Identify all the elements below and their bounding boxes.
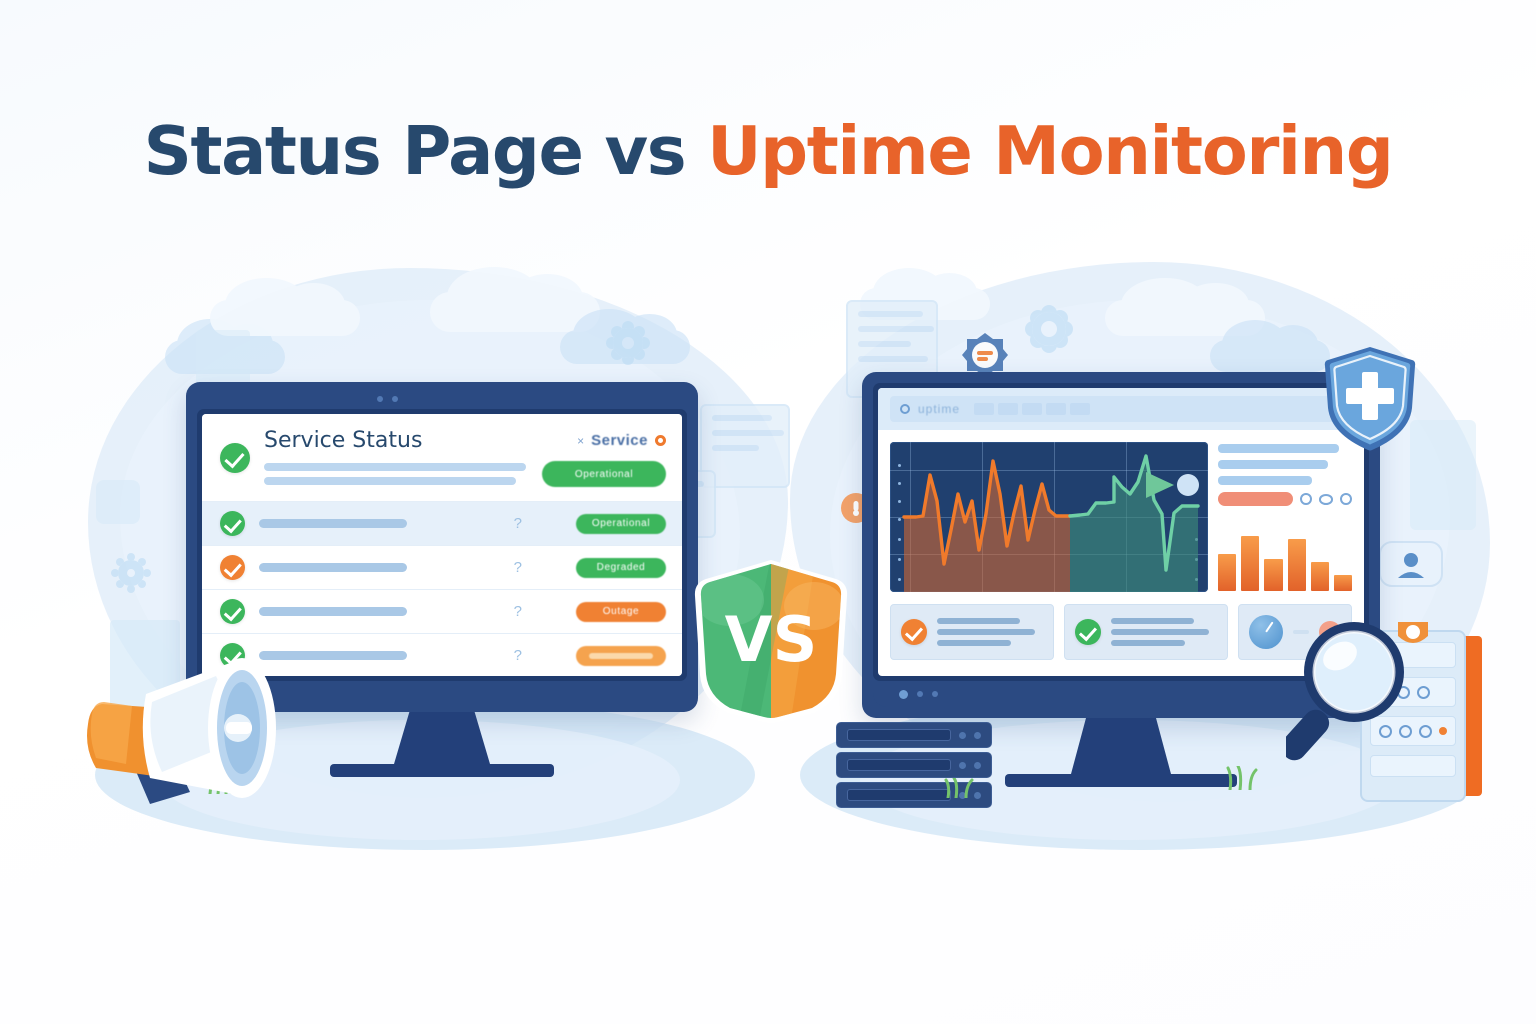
server-slot: [847, 759, 951, 770]
service-name-bar: [259, 563, 407, 572]
badge-inner-bar: [589, 653, 654, 659]
gauge-icon: [1249, 615, 1283, 649]
page-title: Status Page vs Uptime Monitoring: [0, 118, 1536, 185]
grass-icon: [1224, 766, 1258, 790]
placeholder-bar: [1218, 460, 1328, 469]
search-text: uptime: [918, 402, 960, 416]
brand-x-mark: ×: [577, 434, 584, 448]
gear-icon: [118, 560, 144, 586]
dashboard-body: [878, 430, 1364, 604]
megaphone-icon: [66, 636, 316, 816]
status-card[interactable]: [890, 604, 1054, 660]
server-led: [959, 732, 966, 739]
ring-icon: [1319, 494, 1334, 505]
monitor-top-bezel: [197, 393, 687, 409]
background-shape: [96, 480, 140, 524]
server-slot: [847, 729, 951, 740]
monitor-stand-base: [1005, 774, 1237, 787]
dashboard-topbar: uptime: [878, 388, 1364, 430]
bezel-dot: [392, 396, 398, 402]
service-name-bar: [259, 607, 407, 616]
chart-side-panel: [1218, 442, 1352, 592]
row-meta: ?: [514, 515, 522, 532]
chart-series-svg: [890, 442, 1208, 592]
placeholder-bar: [937, 640, 1011, 646]
uptime-chart[interactable]: [890, 442, 1208, 592]
topbar-cell: [1046, 403, 1066, 415]
check-circle-icon: [901, 619, 927, 645]
circle-marker: [1177, 474, 1199, 496]
gear-icon: [613, 328, 643, 358]
topbar-cell: [1022, 403, 1042, 415]
bezel-dot: [932, 691, 938, 697]
background-shape: [196, 330, 250, 390]
bezel-dot: [899, 690, 908, 699]
monitor-stand-base: [330, 764, 554, 777]
card-lines: [1111, 618, 1217, 646]
server-led: [974, 732, 981, 739]
card-lines: [937, 618, 1043, 646]
illustration-canvas: Status Page vs Uptime Monitoring Service…: [0, 0, 1536, 1024]
brand-logo: × Service: [577, 432, 666, 449]
bar-chart[interactable]: [1218, 519, 1352, 591]
grass-icon: [944, 778, 978, 798]
brand-name: Service: [591, 432, 648, 449]
topbar-cells: [974, 403, 1090, 415]
bar-item: [1241, 536, 1259, 591]
row-meta: ?: [514, 603, 522, 620]
placeholder-bar: [937, 629, 1035, 635]
service-name-bar: [259, 519, 407, 528]
row-meta: ?: [514, 559, 522, 576]
bezel-dot: [917, 691, 923, 697]
row-meta: ?: [514, 647, 522, 664]
topbar-cell: [1070, 403, 1090, 415]
server-led: [959, 762, 966, 769]
search-icon: [900, 404, 910, 414]
status-badge[interactable]: Degraded: [576, 558, 666, 578]
server-slot: [847, 789, 951, 800]
placeholder-bar: [264, 477, 516, 485]
magnifier-icon: [1286, 610, 1426, 770]
monitor-stand-neck: [394, 712, 490, 764]
bezel-dot: [377, 396, 383, 402]
topbar-cell: [998, 403, 1018, 415]
placeholder-bar: [1111, 618, 1194, 624]
bar-item: [1311, 562, 1329, 591]
vs-label: VS: [725, 603, 818, 676]
play-triangle-marker: [1146, 472, 1174, 498]
placeholder-bar: [264, 463, 526, 471]
bezel-dots-left: [873, 681, 960, 707]
server-unit: [836, 752, 992, 778]
check-circle-icon: [220, 555, 245, 580]
legend-row: [1218, 492, 1352, 506]
placeholder-bar: [1111, 640, 1185, 646]
ring-icon: [1300, 493, 1312, 505]
placeholder-bar: [1111, 629, 1209, 635]
vs-shield-badge: VS: [686, 556, 856, 726]
status-badge[interactable]: Operational: [576, 514, 666, 534]
table-row[interactable]: ? Operational: [202, 501, 682, 545]
table-row[interactable]: ? Degraded: [202, 545, 682, 589]
status-badge[interactable]: Operational: [542, 461, 666, 487]
status-dot: [1439, 727, 1447, 735]
status-page-title: Service Status: [264, 428, 422, 453]
bar-item: [1334, 575, 1352, 591]
status-card[interactable]: [1064, 604, 1228, 660]
check-circle-icon: [220, 443, 250, 473]
status-badge[interactable]: Outage: [576, 602, 666, 622]
status-badge[interactable]: [576, 646, 666, 666]
background-shape: [1410, 420, 1476, 530]
user-bubble-icon: [1378, 540, 1444, 596]
server-unit: [836, 722, 992, 748]
table-row[interactable]: ? Outage: [202, 589, 682, 633]
search-input[interactable]: uptime: [890, 396, 1352, 422]
topbar-cell: [974, 403, 994, 415]
legend-bar: [1218, 492, 1293, 506]
placeholder-bar: [937, 618, 1020, 624]
placeholder-bar: [1218, 476, 1312, 485]
check-circle-icon: [220, 599, 245, 624]
placeholder-bar: [1218, 444, 1339, 453]
check-circle-icon: [1075, 619, 1101, 645]
ring-logo-icon: [655, 435, 666, 446]
title-dark-part: Status Page vs: [144, 112, 708, 190]
check-circle-icon: [220, 511, 245, 536]
gear-icon: [1032, 312, 1066, 346]
bar-item: [1288, 539, 1306, 591]
status-page-header: Service Status × Service: [202, 414, 682, 501]
ring-icon: [1340, 493, 1352, 505]
bar-item: [1218, 554, 1236, 591]
bar-item: [1264, 559, 1282, 591]
server-led: [974, 762, 981, 769]
shield-cross-icon: [1322, 344, 1418, 456]
cloud-icon: [1210, 340, 1330, 372]
title-orange-part: Uptime Monitoring: [707, 112, 1392, 190]
monitor-stand-neck: [1071, 718, 1171, 774]
